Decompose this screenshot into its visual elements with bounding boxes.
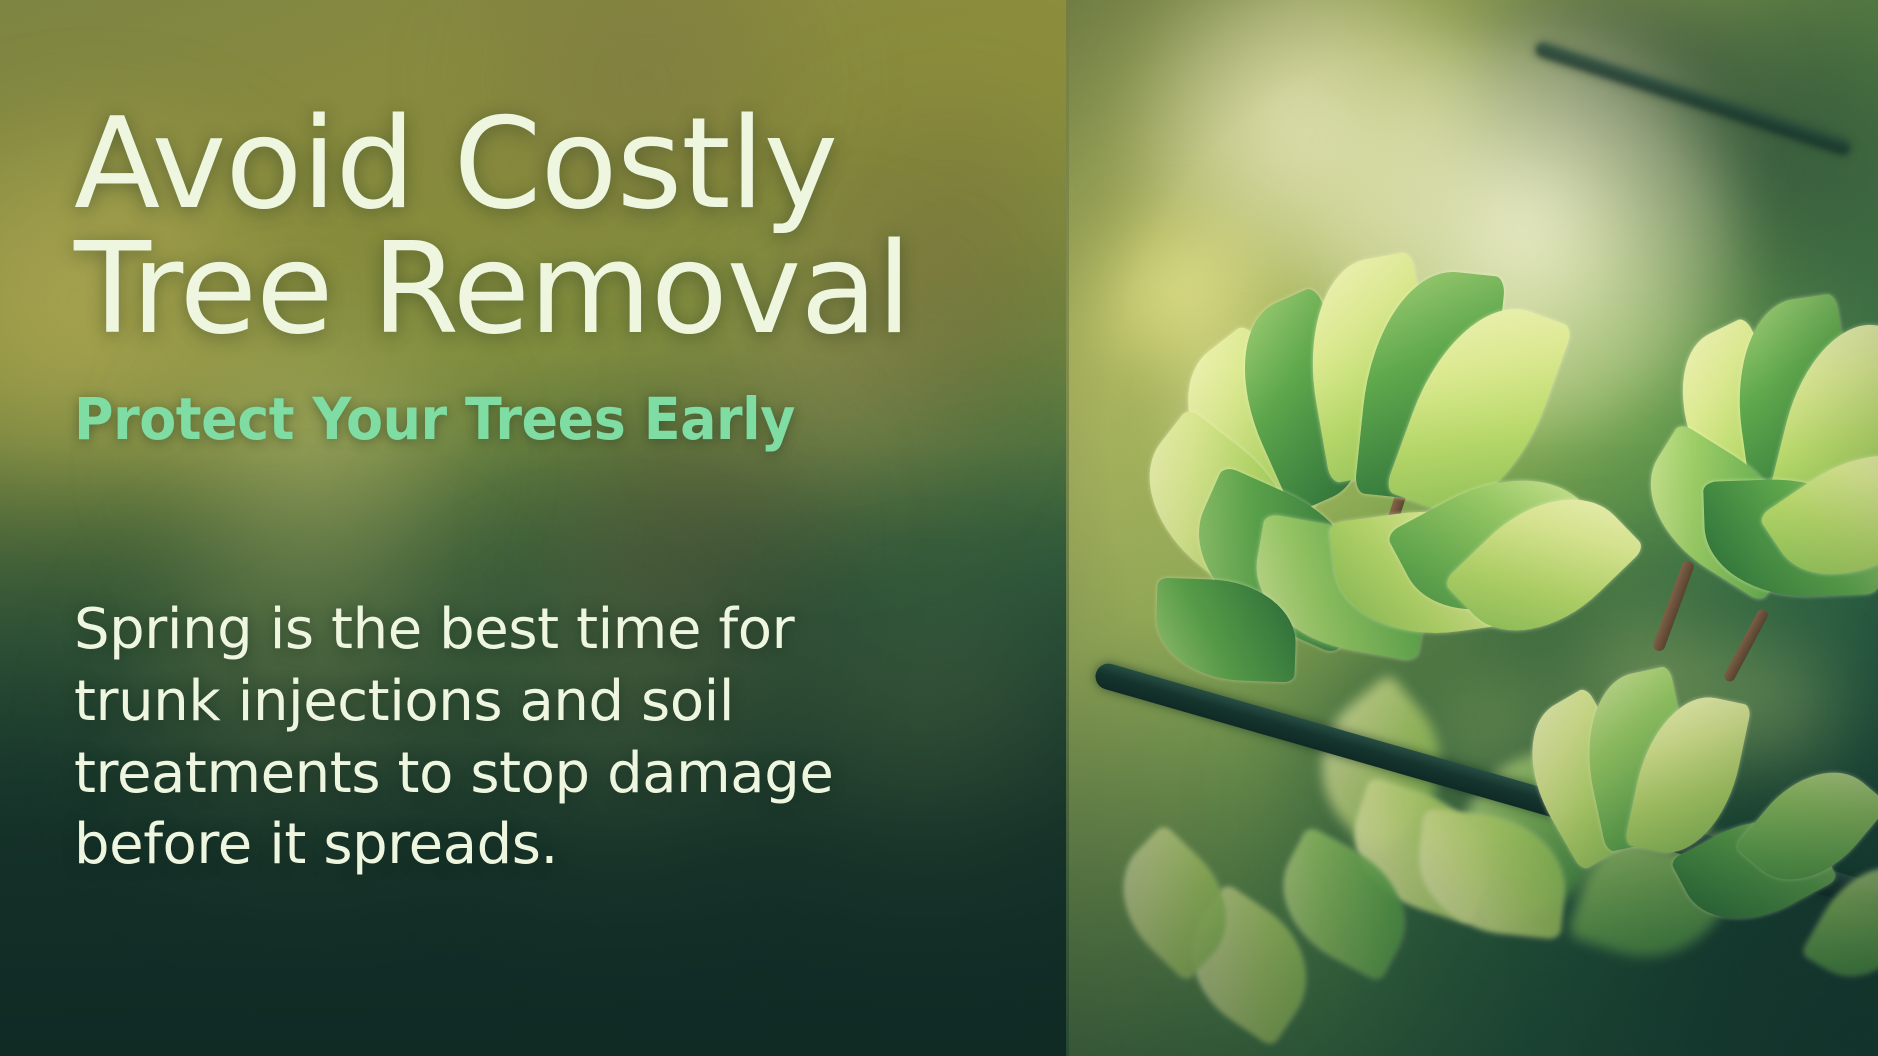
- promotional-banner: Avoid Costly Tree Removal Protect Your T…: [0, 0, 1878, 1056]
- photo-panel: [1066, 0, 1878, 1056]
- background-branch: [1534, 40, 1852, 156]
- twig: [1722, 608, 1769, 684]
- headline: Avoid Costly Tree Removal: [74, 102, 1006, 351]
- body-paragraph: Spring is the best time for trunk inject…: [74, 594, 834, 881]
- subheadline: Protect Your Trees Early: [74, 389, 941, 450]
- left-text-panel: Avoid Costly Tree Removal Protect Your T…: [0, 0, 1066, 1056]
- twig: [1652, 559, 1696, 652]
- bokeh-highlight: [1126, 0, 1486, 300]
- background-shadow-mass: [1456, 0, 1746, 240]
- text-content-stack: Avoid Costly Tree Removal Protect Your T…: [0, 0, 1066, 1056]
